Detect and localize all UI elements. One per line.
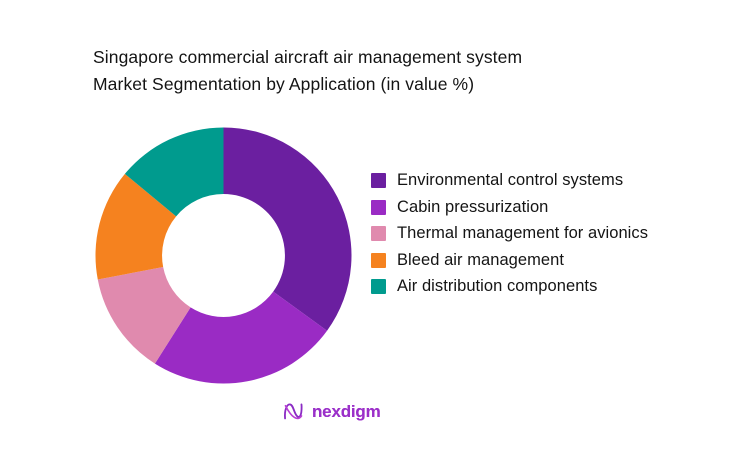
legend-item-label: Thermal management for avionics: [397, 221, 648, 246]
legend-item-bleed-air-management[interactable]: Bleed air management: [371, 248, 651, 273]
nexdigm-logo: nexdigm: [282, 400, 381, 423]
legend-swatch-icon: [371, 279, 386, 294]
nexdigm-n-mark-icon: [282, 400, 305, 423]
chart-page: Singapore commercial aircraft air manage…: [0, 0, 735, 464]
legend-item-environmental-control-systems[interactable]: Environmental control systems: [371, 168, 651, 193]
donut-slice-group: [96, 128, 352, 384]
donut-slice[interactable]: [224, 128, 352, 331]
chart-legend: Environmental control systems Cabin pres…: [371, 168, 651, 301]
legend-swatch-icon: [371, 200, 386, 215]
legend-item-air-distribution-components[interactable]: Air distribution components: [371, 274, 651, 299]
legend-swatch-icon: [371, 226, 386, 241]
chart-title-line-1: Singapore commercial aircraft air manage…: [93, 44, 653, 71]
legend-item-label: Air distribution components: [397, 274, 597, 299]
nexdigm-logo-text: nexdigm: [312, 402, 381, 422]
chart-title-line-2: Market Segmentation by Application (in v…: [93, 71, 653, 98]
legend-swatch-icon: [371, 253, 386, 268]
legend-item-thermal-management-for-avionics[interactable]: Thermal management for avionics: [371, 221, 651, 246]
legend-swatch-icon: [371, 173, 386, 188]
legend-item-label: Cabin pressurization: [397, 195, 548, 220]
legend-item-label: Environmental control systems: [397, 168, 623, 193]
chart-title: Singapore commercial aircraft air manage…: [93, 44, 653, 98]
legend-item-cabin-pressurization[interactable]: Cabin pressurization: [371, 195, 651, 220]
donut-chart: [95, 127, 352, 384]
donut-chart-svg: [95, 127, 352, 384]
legend-item-label: Bleed air management: [397, 248, 564, 273]
